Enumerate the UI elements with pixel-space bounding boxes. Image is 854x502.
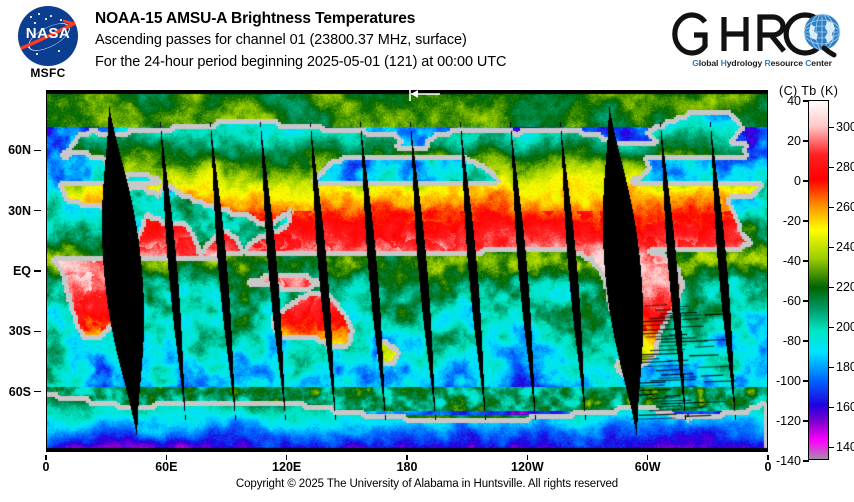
colorbar-celsius-label-neg140: -140 [776, 454, 801, 468]
colorbar-celsius-tick [803, 380, 809, 382]
colorbar-kelvin-tick [828, 127, 834, 129]
colorbar-celsius-tick [803, 260, 809, 262]
colorbar-kelvin-tick [828, 407, 834, 409]
subtitle-channel: Ascending passes for channel 01 (23800.3… [95, 29, 665, 51]
colorbar-kelvin-label-180: 180 [836, 360, 854, 374]
x-tick-mark [767, 455, 769, 460]
msfc-label: MSFC [12, 66, 84, 80]
colorbar-kelvin-label-140: 140 [836, 440, 854, 454]
colorbar-kelvin-tick [828, 367, 834, 369]
y-tick-label-60s: 60S [9, 385, 31, 399]
colorbar-kelvin-label-200: 200 [836, 320, 854, 334]
colorbar-celsius-tick [803, 140, 809, 142]
colorbar-celsius-label-neg100: -100 [776, 374, 801, 388]
colorbar-kelvin-label-260: 260 [836, 200, 854, 214]
x-tick-label-60e: 60E [155, 460, 177, 474]
subtitle-period: For the 24-hour period beginning 2025-05… [95, 51, 665, 73]
colorbar-kelvin-tick [828, 167, 834, 169]
x-tick-label-120w: 120W [511, 460, 544, 474]
y-tick-label-eq: EQ [13, 264, 31, 278]
colorbar-celsius-tick [803, 340, 809, 342]
x-axis-labels: 060E120E180120W60W0 [0, 455, 820, 473]
colorbar-kelvin-label-280: 280 [836, 160, 854, 174]
colorbar-celsius-label-neg60: -60 [783, 294, 801, 308]
title-block: NOAA-15 AMSU-A Brightness Temperatures A… [95, 9, 665, 73]
x-tick-label-60w: 60W [635, 460, 661, 474]
y-tick-label-30s: 30S [9, 324, 31, 338]
colorbar-celsius-label-neg20: -20 [783, 214, 801, 228]
ghrc-logo: Global Hydrology Resource Center [672, 6, 848, 80]
colorbar-kelvin-label-240: 240 [836, 240, 854, 254]
colorbar-celsius-label-neg120: -120 [776, 414, 801, 428]
colorbar-celsius-label-0: 0 [794, 174, 801, 188]
x-tick-label-0: 0 [765, 460, 772, 474]
colorbar-celsius-label-neg80: -80 [783, 334, 801, 348]
colorbar-kelvin-tick [828, 327, 834, 329]
colorbar-celsius-tick [803, 180, 809, 182]
x-tick-mark [45, 455, 47, 460]
colorbar-celsius-label-neg40: -40 [783, 254, 801, 268]
ghrc-subtitle: Global Hydrology Resource Center [676, 58, 848, 68]
y-tick-label-60n: 60N [8, 143, 31, 157]
colorbar-celsius-tick [803, 460, 809, 462]
y-axis-labels: 60N30NEQ30S60S [0, 90, 41, 452]
y-tick-mark [34, 210, 41, 212]
colorbar-kelvin-label-300: 300 [836, 120, 854, 134]
x-tick-label-180: 180 [397, 460, 418, 474]
colorbar-kelvin-tick [828, 247, 834, 249]
y-tick-mark [34, 150, 41, 152]
brightness-temperature-heatmap [47, 91, 767, 451]
page-title: NOAA-15 AMSU-A Brightness Temperatures [95, 9, 665, 29]
x-tick-mark [166, 455, 168, 460]
colorbar[interactable]: 40200-20-40-60-80-100-120-14030028026024… [808, 100, 829, 460]
colorbar-celsius-tick [803, 300, 809, 302]
colorbar-celsius-label-20: 20 [787, 134, 801, 148]
colorbar-celsius-tick [803, 420, 809, 422]
nasa-meatball-icon: NASA [18, 6, 78, 66]
colorbar-celsius-tick [803, 100, 809, 102]
map-plot-area[interactable] [46, 90, 768, 452]
y-tick-label-30n: 30N [8, 204, 31, 218]
swath-direction-arrow-icon [404, 86, 444, 102]
x-tick-mark [647, 455, 649, 460]
x-tick-mark [406, 455, 408, 460]
nasa-wordmark: NASA [18, 25, 78, 42]
y-tick-mark [34, 270, 41, 272]
x-tick-label-120e: 120E [272, 460, 301, 474]
ghrc-wordmark-icon [672, 8, 848, 58]
colorbar-kelvin-label-160: 160 [836, 400, 854, 414]
colorbar-celsius-label-40: 40 [787, 94, 801, 108]
colorbar-celsius-tick [803, 220, 809, 222]
nasa-logo: NASA MSFC [12, 6, 84, 82]
colorbar-kelvin-tick [828, 287, 834, 289]
x-tick-mark [286, 455, 288, 460]
y-tick-mark [34, 391, 41, 393]
colorbar-kelvin-tick [828, 207, 834, 209]
copyright-notice: Copyright © 2025 The University of Alaba… [0, 478, 854, 490]
y-tick-mark [34, 331, 41, 333]
x-tick-label-0: 0 [43, 460, 50, 474]
colorbar-kelvin-tick [828, 447, 834, 449]
colorbar-gradient [809, 101, 828, 459]
colorbar-kelvin-label-220: 220 [836, 280, 854, 294]
x-tick-mark [527, 455, 529, 460]
